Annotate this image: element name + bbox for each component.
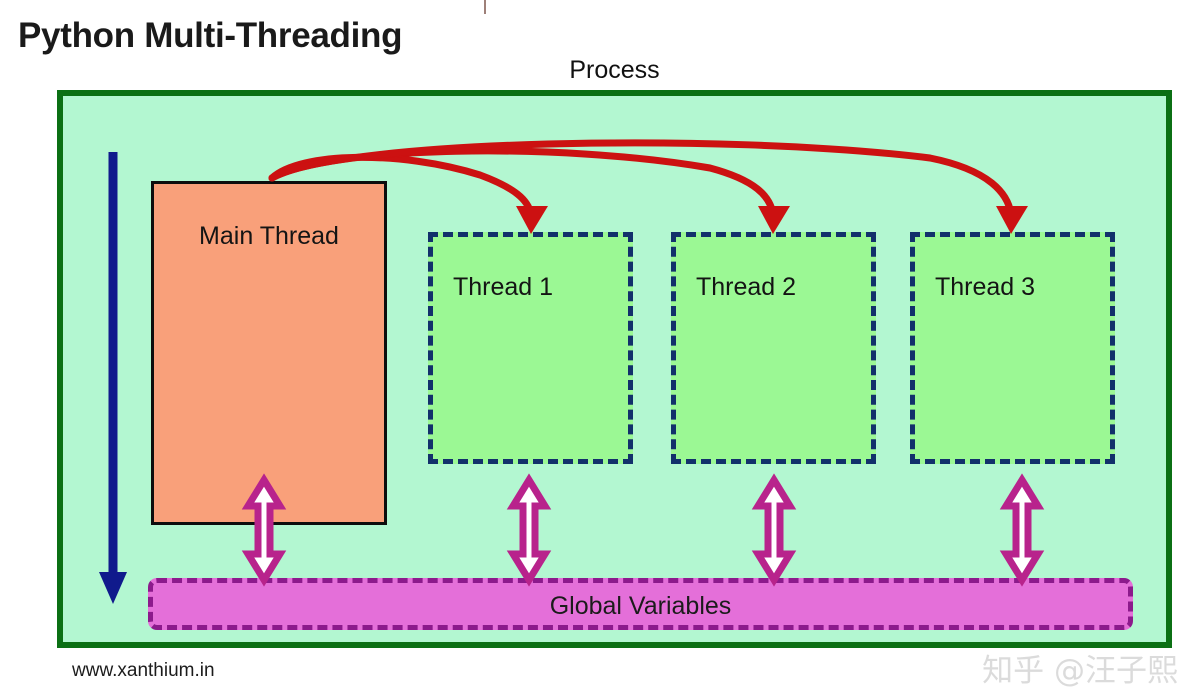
thread-label-1: Thread 1 xyxy=(453,273,553,302)
main-thread-label: Main Thread xyxy=(154,222,384,251)
global-variables-label: Global Variables xyxy=(153,592,1128,621)
watermark-text: 知乎 @汪子熙 xyxy=(982,645,1178,690)
page-title: Python Multi-Threading xyxy=(18,16,402,56)
thread-box-3[interactable]: Thread 3 xyxy=(910,232,1115,464)
global-variables-bar[interactable]: Global Variables xyxy=(148,578,1133,630)
main-thread-box[interactable]: Main Thread xyxy=(151,181,387,525)
thread-label-2: Thread 2 xyxy=(696,273,796,302)
site-url-text: www.xanthium.in xyxy=(72,660,215,682)
thread-box-2[interactable]: Thread 2 xyxy=(671,232,876,464)
thread-label-3: Thread 3 xyxy=(935,273,1035,302)
diagram-canvas: Python Multi-Threading Process Main Thre… xyxy=(0,0,1200,700)
thread-box-1[interactable]: Thread 1 xyxy=(428,232,633,464)
crop-artifact-mark xyxy=(484,0,486,14)
process-label: Process xyxy=(57,56,1172,85)
